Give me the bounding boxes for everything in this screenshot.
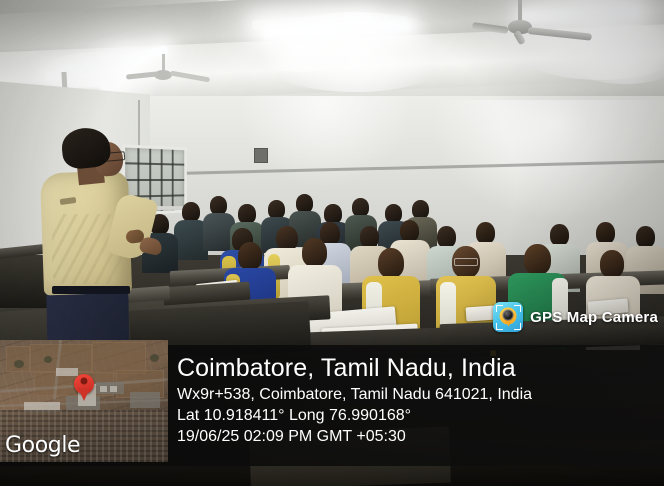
student-head <box>302 238 327 267</box>
student-head <box>600 250 624 278</box>
student-head <box>400 220 419 242</box>
gps-map-camera-label: GPS Map Camera <box>530 309 658 326</box>
student-head <box>437 226 456 248</box>
student-head <box>238 204 256 224</box>
eyeglasses-icon <box>454 258 478 266</box>
location-pin-icon <box>74 374 94 394</box>
gps-camera-pin-icon <box>493 302 523 332</box>
eyeglasses-icon <box>105 151 126 162</box>
student-head <box>324 204 342 224</box>
location-coordinates: Lat 10.918411° Long 76.990168° <box>177 405 657 426</box>
student-head <box>524 244 551 275</box>
map-thumbnail[interactable]: Google <box>0 340 168 462</box>
gps-map-camera-badge: GPS Map Camera <box>493 302 658 332</box>
location-title: Coimbatore, Tamil Nadu, India <box>177 353 657 384</box>
location-timestamp: 19/06/25 02:09 PM GMT +05:30 <box>177 426 657 447</box>
ceiling-fan-rod <box>518 0 522 22</box>
screenshot-root: GPS Map Camera <box>0 0 664 486</box>
student-head <box>476 222 495 244</box>
student-head <box>182 202 200 222</box>
gps-info-bar: Google Coimbatore, Tamil Nadu, India Wx9… <box>0 345 664 466</box>
student-head <box>378 248 404 278</box>
location-address: Wx9r+538, Coimbatore, Tamil Nadu 641021,… <box>177 384 657 405</box>
student-head <box>636 226 655 248</box>
student-head <box>238 242 262 270</box>
teacher-belt <box>52 286 130 294</box>
student-head <box>550 224 569 246</box>
student-head <box>596 222 615 244</box>
google-watermark: Google <box>5 433 80 458</box>
student-head <box>360 226 379 248</box>
wall-switch <box>254 148 268 163</box>
gps-info-text: Coimbatore, Tamil Nadu, India Wx9r+538, … <box>177 353 657 447</box>
